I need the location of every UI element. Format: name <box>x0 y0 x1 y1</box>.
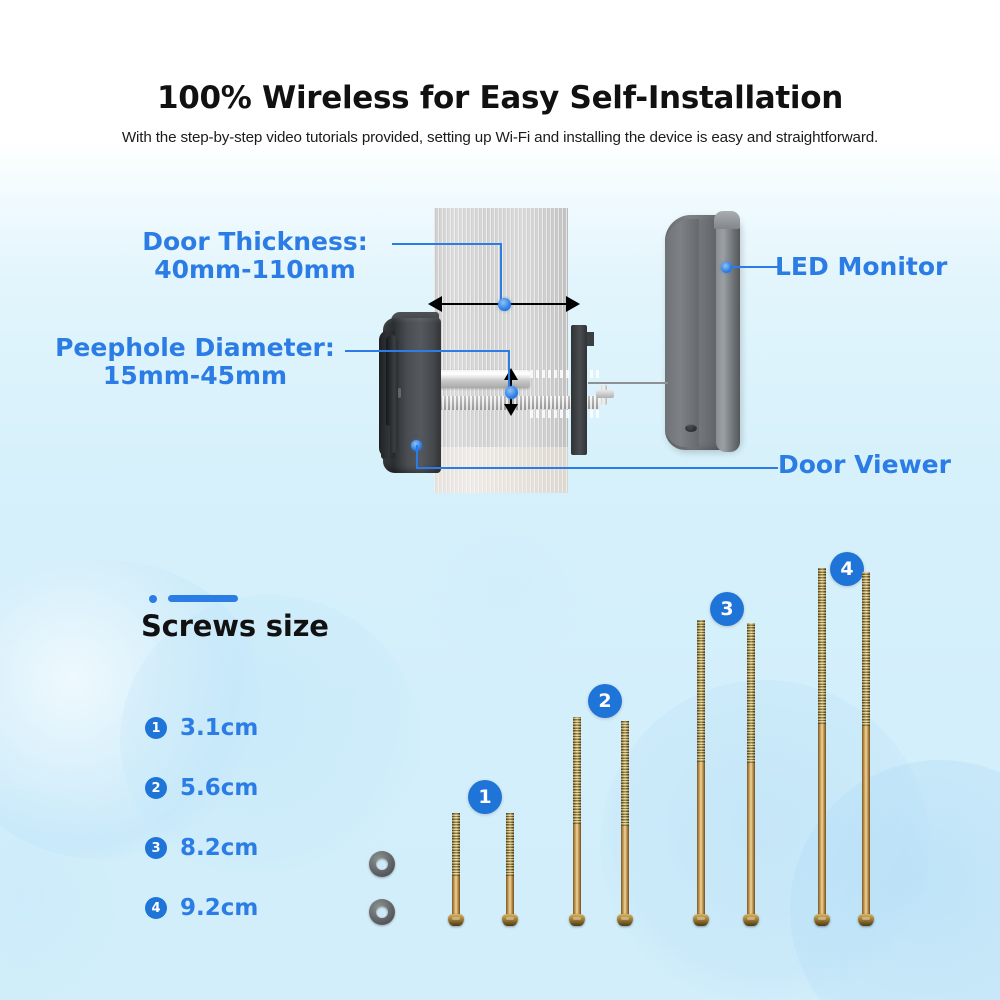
screw-3a <box>697 620 705 926</box>
header: 100% Wireless for Easy Self-Installation… <box>0 0 1000 146</box>
peephole-threaded-rod <box>520 396 600 409</box>
screw-legend-row: 4 9.2cm <box>145 895 258 921</box>
leader-dot-peephole <box>505 386 518 399</box>
screw-legend-badge: 1 <box>145 717 167 739</box>
peephole-guide-bottom <box>530 410 602 418</box>
screw-2b <box>621 721 629 926</box>
infographic-page: 100% Wireless for Easy Self-Installation… <box>0 0 1000 1000</box>
screw-head <box>693 914 709 926</box>
peephole-guide-top <box>530 370 602 378</box>
page-subtitle: With the step-by-step video tutorials pr… <box>0 116 1000 146</box>
screw-head <box>448 914 464 926</box>
screw-2a <box>573 717 581 926</box>
screw-group-badge-3: 3 <box>710 592 744 626</box>
washer <box>369 851 395 877</box>
page-title: 100% Wireless for Easy Self-Installation <box>0 0 1000 116</box>
background-bubble <box>0 790 150 1000</box>
screw-3b <box>747 623 755 926</box>
screw-4b <box>862 572 870 926</box>
screw-legend-row: 2 5.6cm <box>145 775 258 801</box>
screw-head <box>858 914 874 926</box>
screw-group-badge-2: 2 <box>588 684 622 718</box>
screw-legend-size: 5.6cm <box>180 775 258 801</box>
screw-head <box>743 914 759 926</box>
label-door-viewer: Door Viewer <box>778 451 951 479</box>
door-thickness-arrow-head-right <box>566 296 580 312</box>
mounting-bracket <box>571 325 587 455</box>
screw-group-badge-1: 1 <box>468 780 502 814</box>
screw-legend-badge: 3 <box>145 837 167 859</box>
leader-line-led-monitor <box>730 266 778 268</box>
background-bubble <box>600 680 930 1000</box>
label-led-monitor: LED Monitor <box>775 253 947 281</box>
screw-1b <box>506 813 514 926</box>
screw-legend-badge: 2 <box>145 777 167 799</box>
background-bubble <box>0 560 270 860</box>
section-marker-dot-icon <box>149 595 157 603</box>
screw-legend-size: 3.1cm <box>180 715 258 741</box>
leader-dot-door-thickness <box>498 298 511 311</box>
label-peephole-line2: 15mm-45mm <box>30 362 360 390</box>
screw-1a <box>452 813 460 926</box>
peephole-diameter-arrow-head-top <box>504 368 518 380</box>
led-monitor-side-face <box>665 219 699 447</box>
leader-line-door-viewer-v <box>416 445 418 469</box>
door-thickness-arrow-head-left <box>428 296 442 312</box>
washer <box>369 899 395 925</box>
screw-legend-badge: 4 <box>145 897 167 919</box>
screw-legend-size: 8.2cm <box>180 835 258 861</box>
leader-line-peephole-h <box>345 350 510 352</box>
screw-4a <box>818 568 826 926</box>
screw-legend-size: 9.2cm <box>180 895 258 921</box>
label-door-thickness-line2: 40mm-110mm <box>110 256 400 284</box>
label-peephole-diameter: Peephole Diameter: 15mm-45mm <box>30 334 360 390</box>
leader-line-door-thickness-h <box>392 243 502 245</box>
mounting-bracket-notch <box>587 332 594 346</box>
led-monitor-screw-hole <box>685 424 697 432</box>
section-marker-bar-icon <box>168 595 238 602</box>
door-slab-lower <box>434 447 568 493</box>
connector-line-bracket-monitor <box>588 382 668 384</box>
mounting-screw-head <box>596 390 614 398</box>
screw-legend-row: 1 3.1cm <box>145 715 258 741</box>
screw-head <box>814 914 830 926</box>
leader-line-door-thickness-v <box>500 243 502 305</box>
leader-line-door-viewer-h <box>416 467 778 469</box>
screw-head <box>569 914 585 926</box>
label-door-thickness-line1: Door Thickness: <box>110 228 400 256</box>
background-bubble <box>420 520 590 670</box>
screw-group-badge-4: 4 <box>830 552 864 586</box>
label-door-thickness: Door Thickness: 40mm-110mm <box>110 228 400 284</box>
screws-section-title: Screws size <box>141 609 329 643</box>
peephole-diameter-arrow-head-bottom <box>504 404 518 416</box>
camera-microphone-slot <box>398 388 401 398</box>
screw-legend-row: 3 8.2cm <box>145 835 258 861</box>
led-monitor-rim-top <box>714 211 740 229</box>
screw-head <box>502 914 518 926</box>
screw-head <box>617 914 633 926</box>
label-peephole-line1: Peephole Diameter: <box>30 334 360 362</box>
camera-bottom-tab <box>381 425 390 459</box>
led-monitor-rim <box>716 213 740 452</box>
